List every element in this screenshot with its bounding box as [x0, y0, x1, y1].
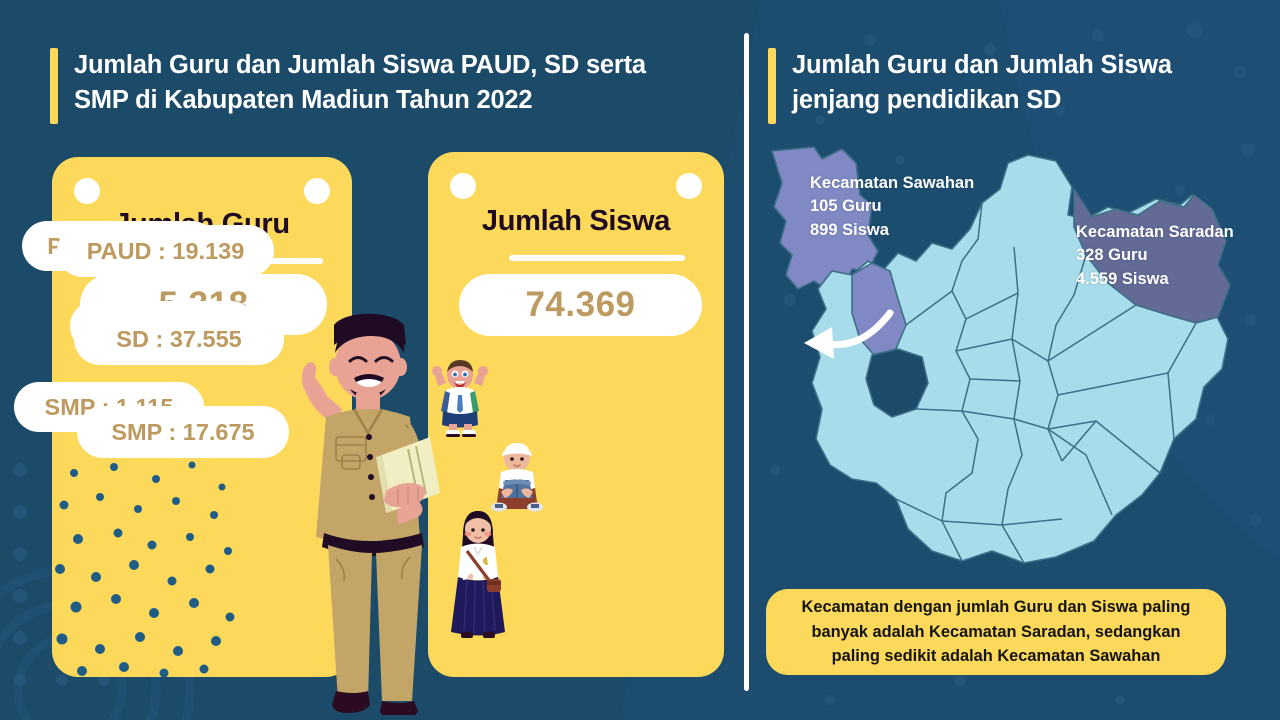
cheering-boy-illustration [424, 358, 496, 438]
left-panel-title: Jumlah Guru dan Jumlah Siswa PAUD, SD se… [50, 48, 710, 124]
right-title-text: Jumlah Guru dan Jumlah Siswa jenjang pen… [792, 48, 1172, 124]
left-title-text: Jumlah Guru dan Jumlah Siswa PAUD, SD se… [74, 48, 646, 124]
map-label-saradan: Kecamatan Saradan 328 Guru 4.559 Siswa [1076, 221, 1234, 291]
card-siswa-underline [509, 255, 685, 261]
stat-pill-siswa-sd: SD : 37.555 [74, 313, 284, 365]
dot-pattern [52, 457, 242, 677]
map-summary-note: Kecamatan dengan jumlah Guru dan Siswa p… [766, 589, 1226, 675]
right-panel-title: Jumlah Guru dan Jumlah Siswa jenjang pen… [768, 48, 1228, 124]
map-label-sawahan: Kecamatan Sawahan 105 Guru 899 Siswa [810, 172, 974, 242]
panel-divider [744, 33, 749, 691]
card-punch-hole-left [450, 173, 476, 199]
stat-pill-siswa-paud: PAUD : 19.139 [57, 225, 274, 277]
card-punch-hole-right [304, 178, 330, 204]
card-punch-hole-right [676, 173, 702, 199]
card-punch-hole-left [74, 178, 100, 204]
card-siswa-total: 74.369 [459, 274, 702, 336]
stat-pill-siswa-smp: SMP : 17.675 [77, 406, 289, 458]
card-siswa-title: Jumlah Siswa [428, 205, 724, 238]
schoolgirl-illustration [447, 505, 509, 640]
reading-kid-illustration [483, 440, 551, 512]
title-accent-bar [768, 48, 776, 124]
title-accent-bar [50, 48, 58, 124]
